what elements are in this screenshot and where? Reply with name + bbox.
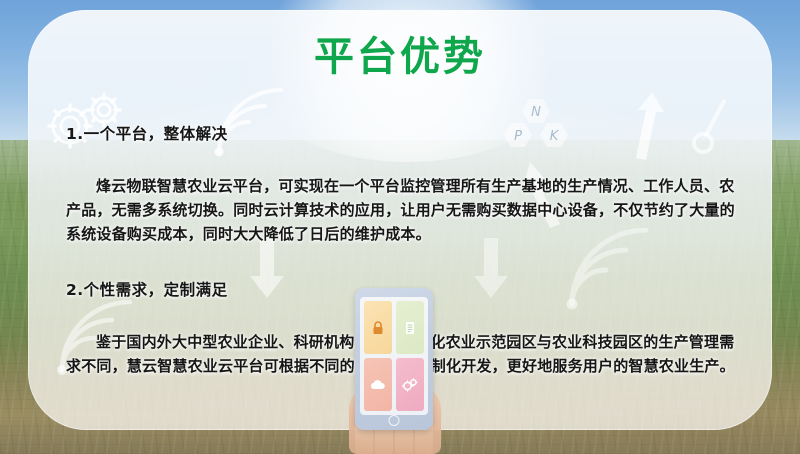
hand-holding-tablet <box>345 288 443 454</box>
tablet-device <box>355 288 433 430</box>
slide-canvas: N P K <box>0 0 800 454</box>
section-1-heading: 1.一个平台，整体解决 <box>66 122 738 144</box>
spacer <box>66 154 738 174</box>
tablet-screen <box>360 297 428 415</box>
section-1-paragraph: 烽云物联智慧农业云平台，可实现在一个平台监控管理所有生产基地的生产情况、工作人员… <box>66 174 738 246</box>
lock-icon[interactable] <box>364 301 392 354</box>
home-button[interactable] <box>389 415 400 426</box>
cloud-icon[interactable] <box>364 358 392 411</box>
document-icon[interactable] <box>396 301 424 354</box>
page-title: 平台优势 <box>0 24 800 82</box>
gears-icon[interactable] <box>396 358 424 411</box>
spacer <box>66 246 738 278</box>
